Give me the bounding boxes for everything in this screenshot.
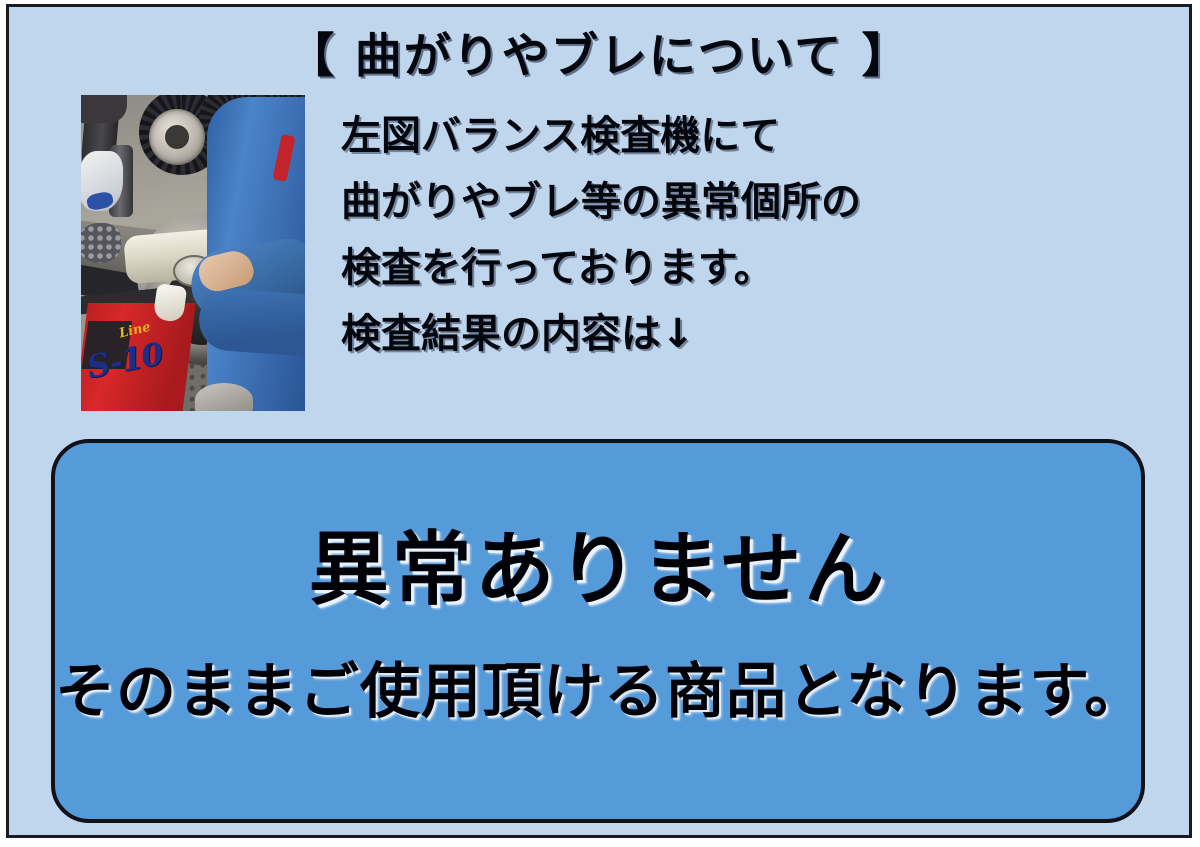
balance-inspection-photo: Line S-10: [81, 95, 305, 411]
description-line-3: 検査を行っております。: [341, 235, 1101, 301]
result-headline: 異常ありません: [55, 505, 1141, 621]
photo-machine-head: [81, 95, 127, 123]
description-text: 左図バランス検査機にて 曲がりやブレ等の異常個所の 検査を行っております。 検査…: [341, 103, 1101, 367]
photo-tire-hub-center: [165, 125, 189, 149]
inspection-result-box: 異常ありません そのままご使用頂ける商品となります。: [51, 439, 1145, 823]
inspection-notice-poster: 【 曲がりやブレについて 】 Line S-10: [6, 4, 1192, 838]
photo-worker-forearm: [197, 287, 305, 357]
description-line-1: 左図バランス検査機にて: [341, 103, 1101, 169]
description-line-2: 曲がりやブレ等の異常個所の: [341, 169, 1101, 235]
description-line-4: 検査結果の内容は↓: [341, 301, 1101, 367]
photo-worker-shoe: [195, 383, 253, 411]
result-subline: そのままご使用頂ける商品となります。: [55, 643, 1141, 730]
page-title: 【 曲がりやブレについて 】: [9, 17, 1189, 86]
photo-steel-wool: [81, 223, 121, 263]
